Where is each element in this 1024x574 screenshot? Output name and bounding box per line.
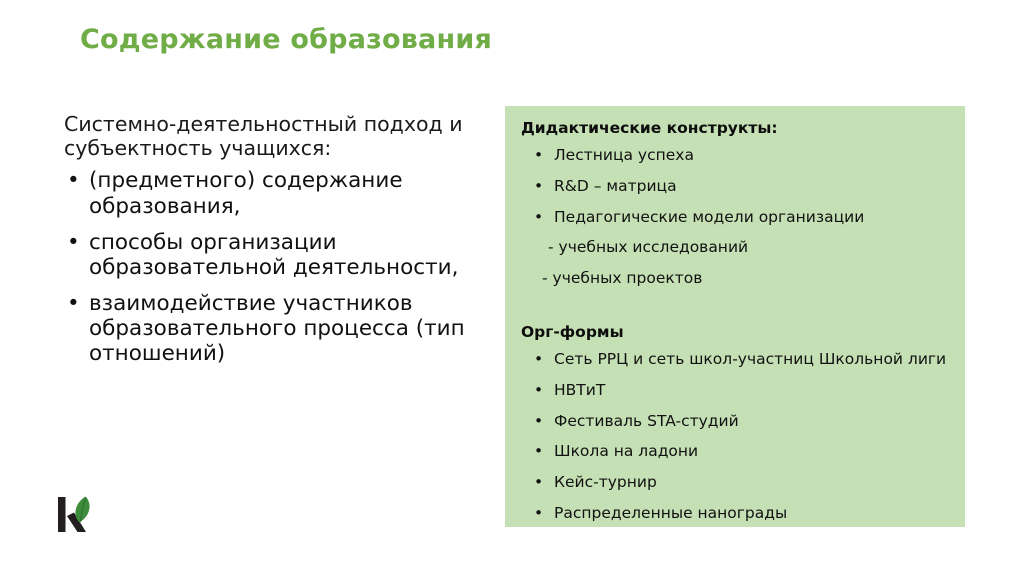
list-item: • способы организации образовательной де… xyxy=(64,230,474,280)
list-item: • Кейс-турнир xyxy=(519,473,951,493)
list-item: • Распределенные нанограды xyxy=(519,504,951,524)
org-forms-list: • Сеть РРЦ и сеть школ-участниц Школьной… xyxy=(519,350,951,524)
bullet-icon: • xyxy=(534,350,543,370)
list-item-label: (предметного) содержание образования, xyxy=(89,168,403,218)
bullet-icon: • xyxy=(534,177,543,197)
bullet-icon: • xyxy=(534,504,543,524)
list-item: • Школа на ладони xyxy=(519,442,951,462)
sub-list-item: - учебных исследований xyxy=(519,238,951,258)
panel-section-heading-didactic: Дидактические конструкты: xyxy=(521,118,951,139)
logo-icon xyxy=(55,494,99,536)
list-item: • взаимодействие участников образователь… xyxy=(64,291,474,366)
didactic-constructs-list: • Лестница успеха • R&D – матрица • Педа… xyxy=(519,146,951,289)
bullet-icon: • xyxy=(67,230,80,255)
green-info-panel: Дидактические конструкты: • Лестница усп… xyxy=(505,106,965,527)
page-title: Содержание образования xyxy=(80,24,900,56)
list-item: • (предметного) содержание образования, xyxy=(64,168,474,218)
list-item: • НВТиТ xyxy=(519,381,951,401)
bullet-icon: • xyxy=(534,208,543,228)
list-item-label: Фестиваль STA-студий xyxy=(554,412,739,430)
left-bullet-list: • (предметного) содержание образования, … xyxy=(64,168,474,366)
section-spacer xyxy=(519,300,951,322)
list-item-label: способы организации образовательной деят… xyxy=(89,230,458,280)
list-item: • Лестница успеха xyxy=(519,146,951,166)
left-content-column: Системно-деятельностный подход и субъект… xyxy=(64,112,474,377)
list-item: • Педагогические модели организации xyxy=(519,208,951,228)
list-item-label: R&D – матрица xyxy=(554,177,677,195)
list-item-label: Распределенные нанограды xyxy=(554,504,787,522)
list-item-label: Лестница успеха xyxy=(554,146,694,164)
list-item-label: НВТиТ xyxy=(554,381,605,399)
bullet-icon: • xyxy=(534,442,543,462)
panel-section-heading-orgforms: Орг-формы xyxy=(521,322,951,343)
bullet-icon: • xyxy=(67,168,80,193)
list-item: • Фестиваль STA-студий xyxy=(519,412,951,432)
list-item: • Сеть РРЦ и сеть школ-участниц Школьной… xyxy=(519,350,951,370)
bullet-icon: • xyxy=(534,381,543,401)
sub-list-item: - учебных проектов xyxy=(519,269,951,289)
slide-canvas: Содержание образования Системно-деятельн… xyxy=(0,0,1024,574)
sub-list-item-label: - учебных исследований xyxy=(548,238,748,256)
bullet-icon: • xyxy=(534,473,543,493)
bullet-icon: • xyxy=(534,412,543,432)
list-item-label: взаимодействие участников образовательно… xyxy=(89,291,465,366)
left-intro-text: Системно-деятельностный подход и субъект… xyxy=(64,112,474,160)
list-item-label: Сеть РРЦ и сеть школ-участниц Школьной л… xyxy=(554,350,946,368)
sub-list-item-label: - учебных проектов xyxy=(542,269,702,287)
bullet-icon: • xyxy=(67,291,80,316)
list-item-label: Кейс-турнир xyxy=(554,473,657,491)
list-item-label: Школа на ладони xyxy=(554,442,698,460)
bullet-icon: • xyxy=(534,146,543,166)
list-item-label: Педагогические модели организации xyxy=(554,208,864,226)
k-leaf-logo xyxy=(55,494,99,536)
list-item: • R&D – матрица xyxy=(519,177,951,197)
